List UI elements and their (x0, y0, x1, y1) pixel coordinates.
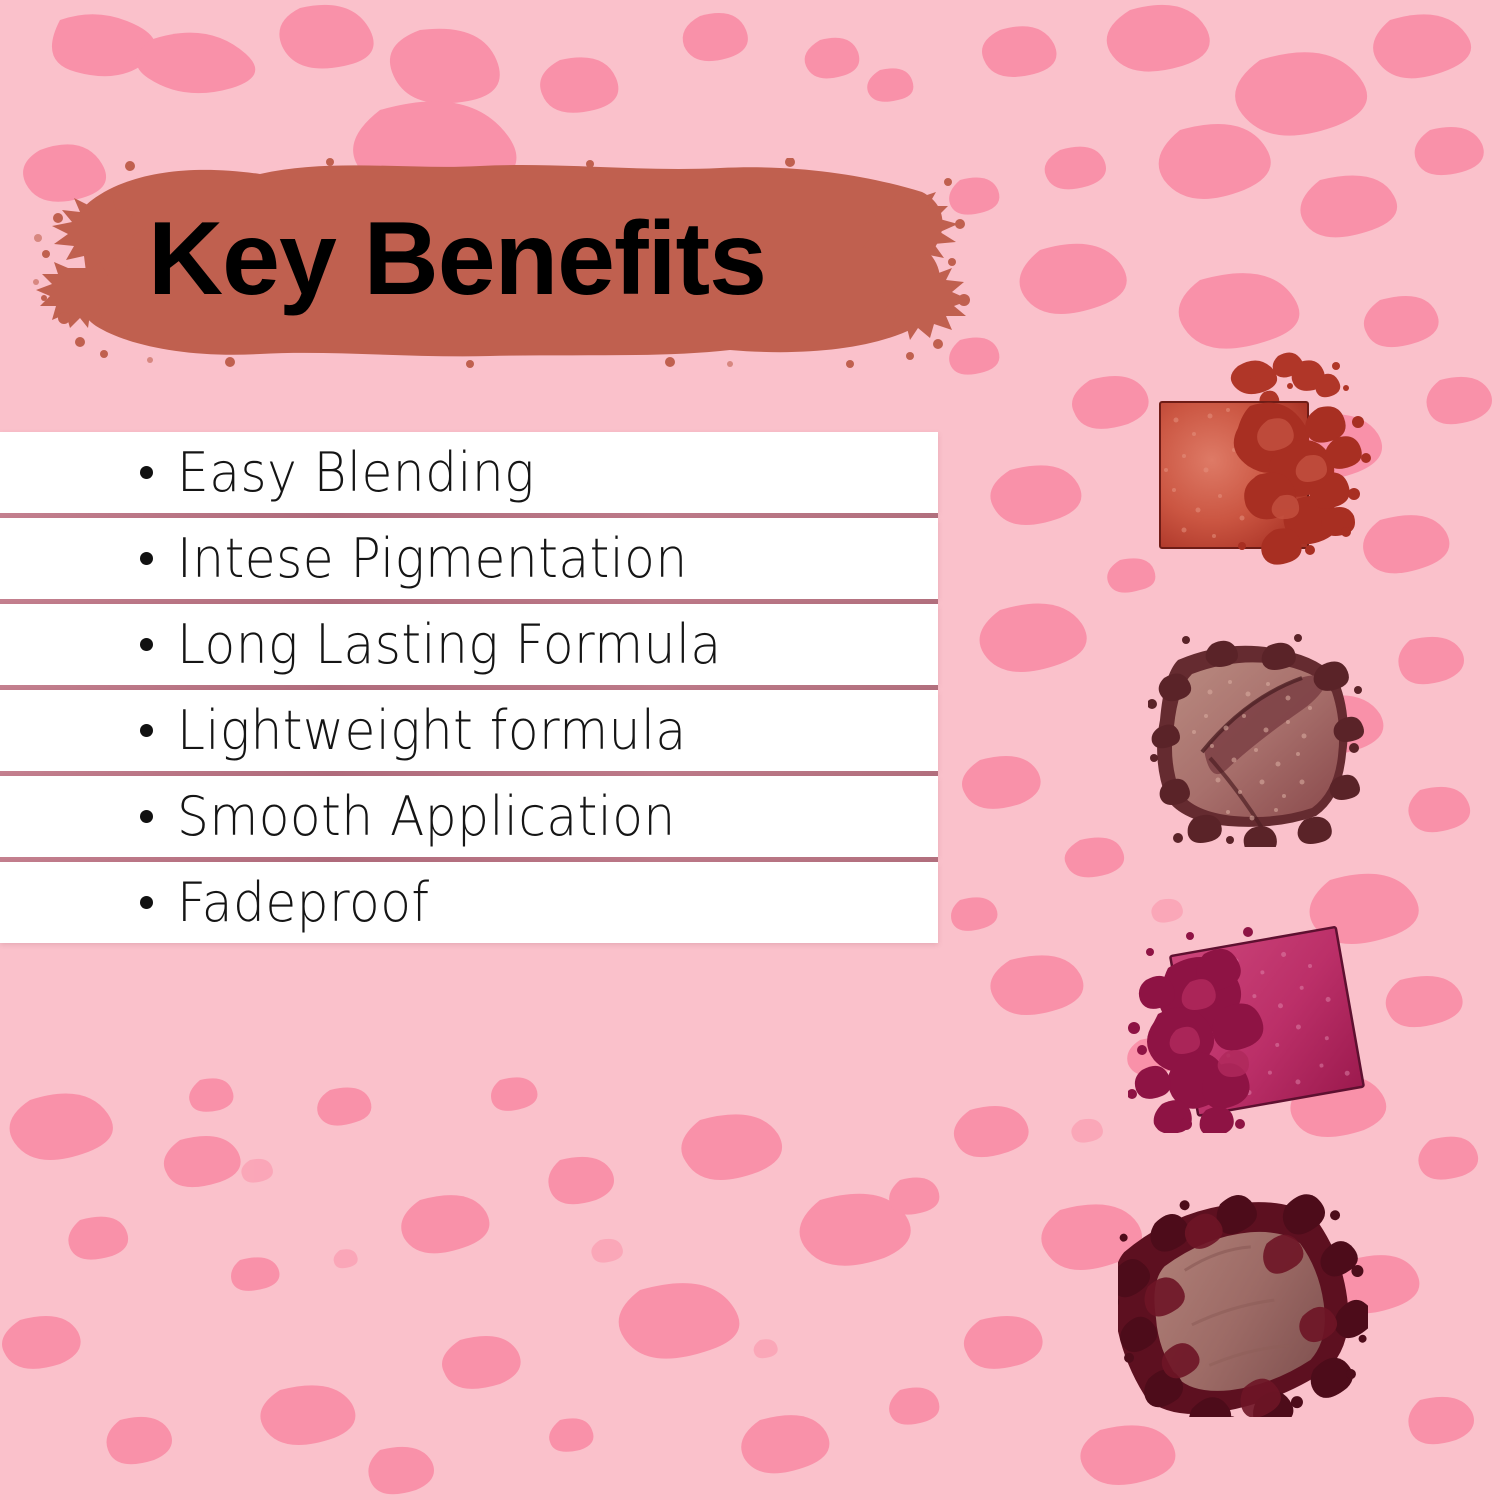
list-item[interactable]: Smooth Application (0, 776, 938, 857)
bullet-icon (140, 810, 153, 823)
bullet-icon (140, 552, 153, 565)
key-benefits-poster: Key Benefits Easy Blending Intese Pigmen… (0, 0, 1500, 1500)
coral-red-eyeshadow-swatch (1150, 350, 1390, 580)
bullet-icon (140, 724, 153, 737)
benefit-label: Intese Pigmentation (177, 532, 688, 586)
mauve-shimmer-eyeshadow-swatch (1148, 632, 1368, 847)
burgundy-eyeshadow-swatch (1118, 1192, 1368, 1417)
benefit-label: Long Lasting Formula (177, 618, 722, 672)
list-item[interactable]: Easy Blending (0, 432, 938, 513)
benefit-label: Easy Blending (177, 446, 535, 500)
benefit-label: Fadeproof (177, 876, 430, 930)
bullet-icon (140, 896, 153, 909)
list-item[interactable]: Intese Pigmentation (0, 518, 938, 599)
benefits-list: Easy Blending Intese Pigmentation Long L… (0, 432, 938, 943)
benefit-label: Smooth Application (177, 790, 676, 844)
list-item[interactable]: Long Lasting Formula (0, 604, 938, 685)
page-title: Key Benefits (148, 184, 908, 334)
list-item[interactable]: Fadeproof (0, 862, 938, 943)
list-item[interactable]: Lightweight formula (0, 690, 938, 771)
bullet-icon (140, 638, 153, 651)
magenta-eyeshadow-swatch (1128, 918, 1388, 1133)
benefit-label: Lightweight formula (177, 704, 687, 758)
bullet-icon (140, 466, 153, 479)
title-banner: Key Benefits (30, 158, 970, 368)
